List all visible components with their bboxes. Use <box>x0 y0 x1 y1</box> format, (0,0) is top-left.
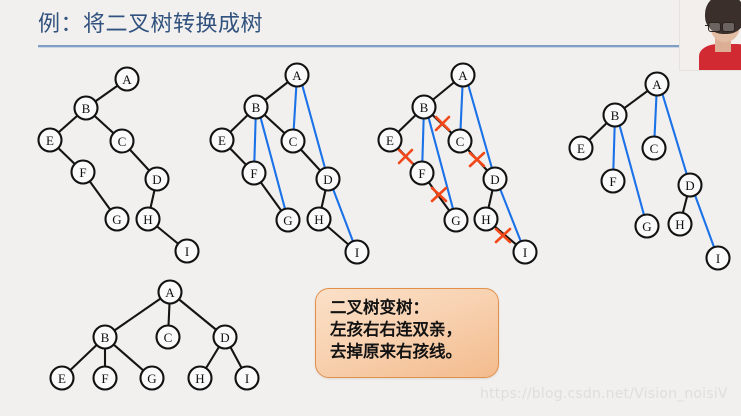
glasses-left-icon <box>708 22 721 32</box>
cross-E-F <box>399 150 412 163</box>
node-D-label: D <box>685 178 694 193</box>
node-G-label: G <box>283 213 292 228</box>
node-F-label: F <box>250 166 257 181</box>
node-F-label: F <box>609 174 616 189</box>
nodes: A B E C F D G H I <box>379 64 537 264</box>
slide-canvas: 例：将二叉树转换成树 A B E <box>0 0 741 416</box>
nodes: A B E C F D G H I <box>39 68 199 263</box>
node-H-label: H <box>481 212 490 227</box>
presenter-webcam-overlay <box>679 0 741 71</box>
node-A-label: A <box>652 77 662 92</box>
node-E-label: E <box>577 141 585 156</box>
node-G-label: G <box>147 371 156 386</box>
node-C-label: C <box>289 134 298 149</box>
node-H-label: H <box>195 371 204 386</box>
node-F-label: F <box>418 166 425 181</box>
diagram-binary-tree-after-removal: A B E C F D G H I <box>570 73 730 270</box>
node-H-label: H <box>675 217 684 232</box>
diagram-binary-tree-with-sibling-links: A B E C F D G H I <box>211 64 369 264</box>
node-E-label: E <box>46 133 54 148</box>
glasses-bridge-icon <box>705 25 710 26</box>
diagram-binary-tree-original: A B E C F D G H I <box>39 68 199 263</box>
node-B-label: B <box>420 100 429 115</box>
node-A-label: A <box>458 68 468 83</box>
node-H-label: H <box>314 212 323 227</box>
node-F-label: F <box>79 165 86 180</box>
node-A-label: A <box>292 68 302 83</box>
node-I-label: I <box>185 244 189 259</box>
node-B-label: B <box>611 108 620 123</box>
diagram-binary-tree-cut-right-child-lines: A B E C F D G H I <box>379 64 537 264</box>
node-D-label: D <box>220 330 229 345</box>
nodes: A B C D E F G H I <box>51 281 259 390</box>
node-A-label: A <box>165 285 175 300</box>
cross-H-I <box>496 229 510 242</box>
node-C-label: C <box>650 141 659 156</box>
node-I-label: I <box>245 371 249 386</box>
nodes: A B E C F D G H I <box>570 73 730 270</box>
node-D-label: D <box>490 172 499 187</box>
edges-black <box>581 84 690 224</box>
callout-line-2: 左孩右右连双亲， <box>330 319 488 341</box>
edges-blue <box>254 75 357 252</box>
node-B-label: B <box>82 101 91 116</box>
node-B-label: B <box>101 330 110 345</box>
diagram-resulting-general-tree: A B C D E F G H I <box>51 281 259 390</box>
edges-blue <box>613 84 718 258</box>
node-G-label: G <box>451 213 460 228</box>
node-D-label: D <box>152 172 161 187</box>
node-C-label: C <box>164 330 173 345</box>
callout-line-1: 二叉树变树： <box>330 297 488 319</box>
node-E-label: E <box>58 371 66 386</box>
node-C-label: C <box>456 134 465 149</box>
node-I-label: I <box>523 245 527 260</box>
node-B-label: B <box>252 100 261 115</box>
cross-F-G <box>432 188 446 201</box>
cross-C-D <box>470 153 484 166</box>
node-E-label: E <box>218 133 226 148</box>
glasses-right-icon <box>722 22 735 32</box>
node-G-label: G <box>112 212 121 227</box>
node-F-label: F <box>101 371 108 386</box>
cross-B-C <box>436 117 449 130</box>
node-D-label: D <box>323 172 332 187</box>
node-G-label: G <box>642 219 651 234</box>
nodes: A B E C F D G H I <box>211 64 369 264</box>
node-A-label: A <box>122 72 132 87</box>
callout-line-3: 去掉原来右孩线。 <box>330 341 488 363</box>
node-I-label: I <box>716 251 720 266</box>
node-E-label: E <box>386 133 394 148</box>
node-H-label: H <box>143 212 152 227</box>
watermark-url: https://blog.csdn.net/Vision_noisiV <box>480 386 728 402</box>
node-C-label: C <box>118 134 127 149</box>
node-I-label: I <box>355 245 359 260</box>
rule-callout-box: 二叉树变树： 左孩右右连双亲， 去掉原来右孩线。 <box>315 288 499 378</box>
